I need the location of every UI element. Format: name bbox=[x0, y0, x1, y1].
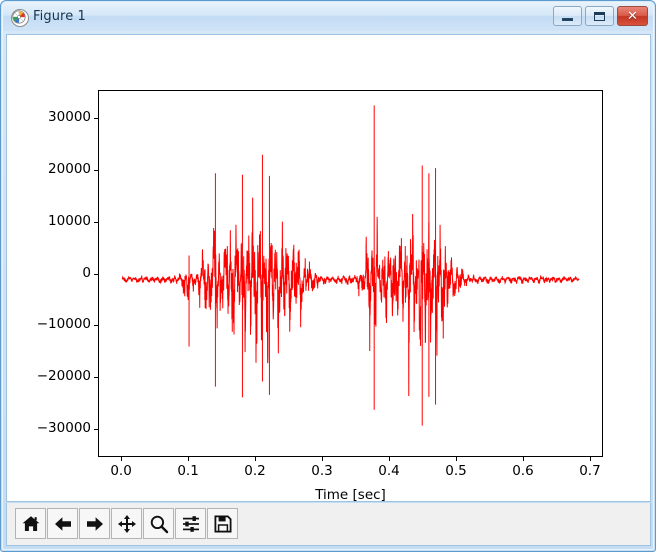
x-axis-tick-label: 0.0 bbox=[91, 465, 151, 479]
figure-canvas-area[interactable]: 3000020000100000−10000−20000−30000 0.00.… bbox=[6, 34, 651, 502]
home-icon bbox=[21, 514, 41, 534]
configure-subplots-button[interactable] bbox=[175, 508, 206, 539]
zoom-button[interactable] bbox=[143, 508, 174, 539]
maximize-icon bbox=[586, 7, 613, 25]
maximize-button[interactable] bbox=[585, 6, 614, 26]
pan-button[interactable] bbox=[111, 508, 142, 539]
y-axis-tick-label: 20000 bbox=[21, 163, 91, 177]
floppy-disk-icon bbox=[213, 514, 233, 534]
waveform-plot bbox=[99, 91, 602, 456]
x-axis-tick-mark bbox=[255, 457, 256, 461]
x-axis-tick-mark bbox=[456, 457, 457, 461]
matplotlib-figure: 3000020000100000−10000−20000−30000 0.00.… bbox=[7, 35, 650, 501]
x-axis-tick-mark bbox=[121, 457, 122, 461]
window-titlebar[interactable]: Figure 1 ✕ bbox=[2, 2, 654, 31]
home-button[interactable] bbox=[15, 508, 46, 539]
move-icon bbox=[117, 514, 137, 534]
sliders-icon bbox=[181, 514, 201, 534]
back-button[interactable] bbox=[47, 508, 78, 539]
minimize-icon bbox=[554, 7, 581, 25]
audio-waveform-series bbox=[122, 105, 579, 425]
figure-window: Figure 1 ✕ 3000020000100000−10000−20000−… bbox=[0, 0, 656, 552]
plot-axes[interactable] bbox=[98, 90, 603, 457]
y-axis-tick-label: 30000 bbox=[21, 111, 91, 125]
x-axis-tick-label: 0.1 bbox=[158, 465, 218, 479]
x-axis-tick-mark bbox=[523, 457, 524, 461]
close-icon: ✕ bbox=[618, 7, 647, 25]
x-axis-tick-label: 0.7 bbox=[560, 465, 620, 479]
y-axis-tick-label: −10000 bbox=[21, 318, 91, 332]
x-axis-title: Time [sec] bbox=[98, 487, 603, 502]
x-axis-tick-mark bbox=[322, 457, 323, 461]
x-axis-tick-label: 0.5 bbox=[426, 465, 486, 479]
save-button[interactable] bbox=[207, 508, 238, 539]
x-axis-tick-mark bbox=[590, 457, 591, 461]
matplotlib-logo-icon bbox=[11, 9, 29, 27]
window-title: Figure 1 bbox=[33, 7, 86, 26]
y-axis-tick-label: 0 bbox=[21, 267, 91, 281]
arrow-left-icon bbox=[53, 514, 73, 534]
y-axis-tick-label: −20000 bbox=[21, 370, 91, 384]
navigation-toolbar bbox=[6, 503, 651, 546]
toolbar-button-group bbox=[15, 508, 239, 539]
arrow-right-icon bbox=[85, 514, 105, 534]
x-axis-tick-label: 0.4 bbox=[359, 465, 419, 479]
y-axis-tick-label: −30000 bbox=[21, 422, 91, 436]
forward-button[interactable] bbox=[79, 508, 110, 539]
x-axis-tick-label: 0.2 bbox=[225, 465, 285, 479]
y-axis-tick-label: 10000 bbox=[21, 215, 91, 229]
x-axis-tick-label: 0.6 bbox=[493, 465, 553, 479]
x-axis-tick-mark bbox=[188, 457, 189, 461]
minimize-button[interactable] bbox=[553, 6, 582, 26]
magnifier-icon bbox=[149, 514, 169, 534]
x-axis-tick-mark bbox=[389, 457, 390, 461]
x-axis-tick-label: 0.3 bbox=[292, 465, 352, 479]
close-button[interactable]: ✕ bbox=[617, 6, 648, 26]
